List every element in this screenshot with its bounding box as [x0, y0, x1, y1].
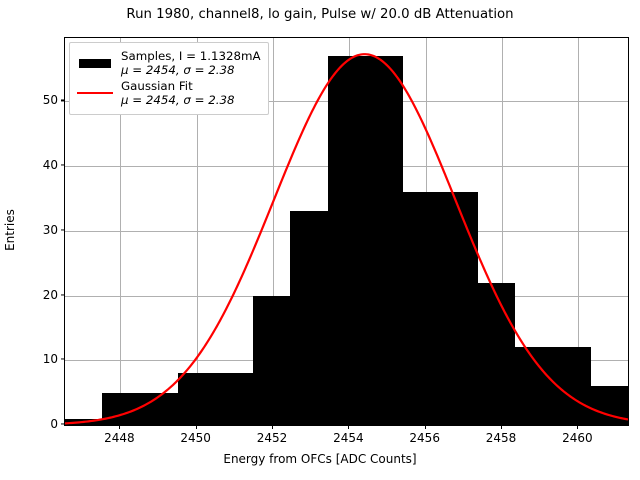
- x-tick-mark: [577, 425, 578, 429]
- y-tick-label: 10: [3, 352, 58, 366]
- y-tick-label: 50: [3, 93, 58, 107]
- y-tick-label: 0: [3, 417, 58, 431]
- y-tick-label: 20: [3, 288, 58, 302]
- y-tick-mark: [61, 229, 65, 230]
- x-tick-mark: [501, 425, 502, 429]
- x-tick-label: 2448: [104, 431, 135, 445]
- y-tick-label: 40: [3, 158, 58, 172]
- x-tick-mark: [196, 425, 197, 429]
- x-tick-label: 2452: [257, 431, 288, 445]
- legend-item-samples: Samples, I = 1.1328mA μ = 2454, σ = 2.38: [76, 49, 261, 78]
- x-tick-label: 2456: [409, 431, 440, 445]
- x-tick-mark: [119, 425, 120, 429]
- y-tick-mark: [61, 294, 65, 295]
- y-tick-mark: [61, 165, 65, 166]
- legend-swatch-gaussian-fit: [76, 86, 114, 100]
- legend-label-gaussian-fit-line2: μ = 2454, σ = 2.38: [121, 93, 235, 107]
- legend-label-samples: Samples, I = 1.1328mA μ = 2454, σ = 2.38: [121, 49, 261, 78]
- y-tick-mark: [61, 100, 65, 101]
- x-tick-mark: [348, 425, 349, 429]
- x-tick-mark: [425, 425, 426, 429]
- x-tick-label: 2460: [562, 431, 593, 445]
- chart-title: Run 1980, channel8, lo gain, Pulse w/ 20…: [0, 7, 640, 22]
- legend-item-gaussian-fit: Gaussian Fit μ = 2454, σ = 2.38: [76, 79, 261, 108]
- x-tick-label: 2450: [180, 431, 211, 445]
- y-tick-mark: [61, 359, 65, 360]
- legend-label-gaussian-fit: Gaussian Fit μ = 2454, σ = 2.38: [121, 79, 235, 108]
- matplotlib-figure: Run 1980, channel8, lo gain, Pulse w/ 20…: [0, 0, 640, 480]
- legend-label-samples-line2: μ = 2454, σ = 2.38: [121, 63, 261, 77]
- legend-label-gaussian-fit-line1: Gaussian Fit: [121, 79, 193, 93]
- chart-legend: Samples, I = 1.1328mA μ = 2454, σ = 2.38…: [69, 42, 269, 115]
- x-tick-label: 2458: [486, 431, 517, 445]
- x-axis-label: Energy from OFCs [ADC Counts]: [0, 452, 640, 466]
- legend-swatch-samples: [76, 56, 114, 70]
- y-axis-label: Entries: [3, 209, 17, 251]
- x-tick-label: 2454: [333, 431, 364, 445]
- gridline-horizontal: [65, 425, 628, 426]
- legend-label-samples-line1: Samples, I = 1.1328mA: [121, 49, 261, 63]
- x-tick-mark: [272, 425, 273, 429]
- y-tick-mark: [61, 423, 65, 424]
